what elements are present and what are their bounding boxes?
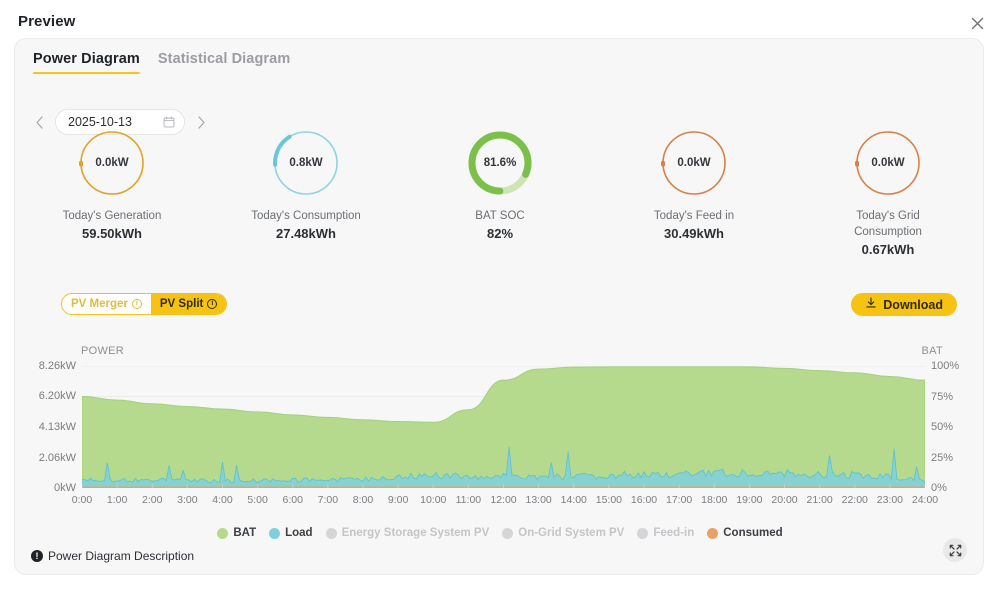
description-label: Power Diagram Description xyxy=(48,549,194,563)
x-tick-label: 5:00 xyxy=(247,494,267,506)
pv-split-label: PV Split xyxy=(160,298,203,310)
x-tick-label: 7:00 xyxy=(318,494,338,506)
y2-tick-label: 25% xyxy=(931,452,953,464)
gauge-0: 0.0kWToday's Generation59.50kWh xyxy=(15,127,209,257)
y2-tick-label: 50% xyxy=(931,421,953,433)
x-tick-label: 18:00 xyxy=(701,494,727,506)
legend-color-dot xyxy=(637,528,648,539)
page-title: Preview xyxy=(18,13,75,30)
gauge-value: 81.6% xyxy=(464,127,536,199)
x-tick-label: 14:00 xyxy=(561,494,587,506)
x-tick-label: 4:00 xyxy=(212,494,232,506)
close-icon[interactable] xyxy=(966,12,988,34)
gauge-ring: 81.6% xyxy=(464,127,536,199)
y-axis-ticks: 0kW2.06kW4.13kW6.20kW8.26kW xyxy=(15,366,76,488)
gauge-4: 0.0kWToday's Grid Consumption0.67kWh xyxy=(791,127,984,257)
tab-bar: Power Diagram Statistical Diagram xyxy=(33,51,290,74)
legend-item-3[interactable]: On-Grid System PV xyxy=(502,527,624,539)
y2-tick-label: 75% xyxy=(931,391,953,403)
summary-gauges: 0.0kWToday's Generation59.50kWh0.8kWToda… xyxy=(15,127,984,257)
x-tick-label: 11:00 xyxy=(456,494,482,506)
x-tick-label: 15:00 xyxy=(596,494,622,506)
x-tick-label: 17:00 xyxy=(666,494,692,506)
legend-label: On-Grid System PV xyxy=(518,527,624,539)
gauge-label: Today's Generation xyxy=(63,208,162,224)
x-tick-label: 23:00 xyxy=(877,494,903,506)
pv-mode-toggle: PV Merger i PV Split i xyxy=(61,293,227,315)
legend-color-dot xyxy=(502,528,513,539)
chart-plot-area xyxy=(82,366,925,488)
y2-tick-label: 0% xyxy=(931,482,947,494)
legend-label: BAT xyxy=(233,527,256,539)
x-tick-label: 19:00 xyxy=(736,494,762,506)
legend-item-0[interactable]: BAT xyxy=(217,527,256,539)
gauge-ring: 0.0kW xyxy=(76,127,148,199)
gauge-2: 81.6%BAT SOC82% xyxy=(403,127,597,257)
gauge-value: 0.0kW xyxy=(852,127,924,199)
pv-merger-option[interactable]: PV Merger i xyxy=(62,294,151,314)
x-tick-label: 2:00 xyxy=(142,494,162,506)
preview-dialog: Preview Power Diagram Statistical Diagra… xyxy=(0,0,998,589)
gauge-subvalue: 0.67kWh xyxy=(862,242,915,257)
tab-statistical-diagram[interactable]: Statistical Diagram xyxy=(158,51,290,74)
x-tick-label: 22:00 xyxy=(842,494,868,506)
gauge-subvalue: 27.48kWh xyxy=(276,226,336,241)
controls-row: PV Merger i PV Split i Download xyxy=(15,293,984,323)
gauge-1: 0.8kWToday's Consumption27.48kWh xyxy=(209,127,403,257)
x-tick-label: 8:00 xyxy=(353,494,373,506)
y2-axis-ticks: 0%25%50%75%100% xyxy=(931,366,984,488)
y-tick-label: 2.06kW xyxy=(39,452,76,464)
info-icon: ! xyxy=(31,550,43,562)
x-tick-label: 21:00 xyxy=(806,494,832,506)
x-tick-label: 12:00 xyxy=(490,494,516,506)
gauge-value: 0.0kW xyxy=(76,127,148,199)
pv-merger-label: PV Merger xyxy=(71,298,128,310)
y-tick-label: 8.26kW xyxy=(39,360,76,372)
download-label: Download xyxy=(883,298,943,312)
fullscreen-icon[interactable] xyxy=(943,538,967,562)
legend-color-dot xyxy=(326,528,337,539)
legend-item-2[interactable]: Energy Storage System PV xyxy=(326,527,490,539)
gauge-ring: 0.8kW xyxy=(270,127,342,199)
gauge-label: BAT SOC xyxy=(475,208,524,224)
legend-item-4[interactable]: Feed-in xyxy=(637,527,694,539)
x-tick-label: 3:00 xyxy=(177,494,197,506)
y-tick-label: 6.20kW xyxy=(39,390,76,402)
info-icon[interactable]: i xyxy=(132,299,142,309)
gauge-ring: 0.0kW xyxy=(658,127,730,199)
legend-label: Load xyxy=(285,527,312,539)
y-axis-title: POWER xyxy=(81,345,124,357)
gauge-ring: 0.0kW xyxy=(852,127,924,199)
y2-tick-label: 100% xyxy=(931,360,959,372)
gauge-label: Today's Consumption xyxy=(251,208,361,224)
chart-legend: BATLoadEnergy Storage System PVOn-Grid S… xyxy=(15,527,984,539)
legend-label: Consumed xyxy=(723,527,782,539)
legend-color-dot xyxy=(707,528,718,539)
legend-color-dot xyxy=(217,528,228,539)
gauge-label: Today's Grid Consumption xyxy=(833,208,943,240)
gauge-subvalue: 30.49kWh xyxy=(664,226,724,241)
x-tick-label: 9:00 xyxy=(388,494,408,506)
x-tick-label: 20:00 xyxy=(771,494,797,506)
download-button[interactable]: Download xyxy=(851,293,957,316)
x-tick-label: 1:00 xyxy=(107,494,127,506)
y-tick-label: 0kW xyxy=(54,482,76,494)
power-diagram-description[interactable]: ! Power Diagram Description xyxy=(31,549,194,563)
legend-color-dot xyxy=(269,528,280,539)
x-tick-label: 0:00 xyxy=(72,494,92,506)
gauge-label: Today's Feed in xyxy=(654,208,734,224)
legend-item-5[interactable]: Consumed xyxy=(707,527,782,539)
x-axis-ticks: 0:001:002:003:004:005:006:007:008:009:00… xyxy=(82,494,925,510)
gauge-3: 0.0kWToday's Feed in30.49kWh xyxy=(597,127,791,257)
gauge-value: 0.8kW xyxy=(270,127,342,199)
tab-power-diagram[interactable]: Power Diagram xyxy=(33,51,140,74)
y-tick-label: 4.13kW xyxy=(39,421,76,433)
info-icon[interactable]: i xyxy=(207,299,217,309)
legend-item-1[interactable]: Load xyxy=(269,527,312,539)
preview-card: Power Diagram Statistical Diagram 2025-1… xyxy=(14,38,984,575)
gauge-value: 0.0kW xyxy=(658,127,730,199)
power-chart: POWER BAT 0kW2.06kW4.13kW6.20kW8.26kW 0%… xyxy=(15,331,984,531)
x-tick-label: 6:00 xyxy=(283,494,303,506)
pv-split-option[interactable]: PV Split i xyxy=(151,294,226,314)
gauge-subvalue: 82% xyxy=(487,226,513,241)
gauge-subvalue: 59.50kWh xyxy=(82,226,142,241)
x-tick-label: 24:00 xyxy=(912,494,938,506)
legend-label: Energy Storage System PV xyxy=(342,527,490,539)
y2-axis-title: BAT xyxy=(922,345,943,357)
x-tick-label: 13:00 xyxy=(525,494,551,506)
legend-label: Feed-in xyxy=(653,527,694,539)
x-tick-label: 10:00 xyxy=(420,494,446,506)
x-tick-label: 16:00 xyxy=(631,494,657,506)
download-icon xyxy=(865,297,877,312)
